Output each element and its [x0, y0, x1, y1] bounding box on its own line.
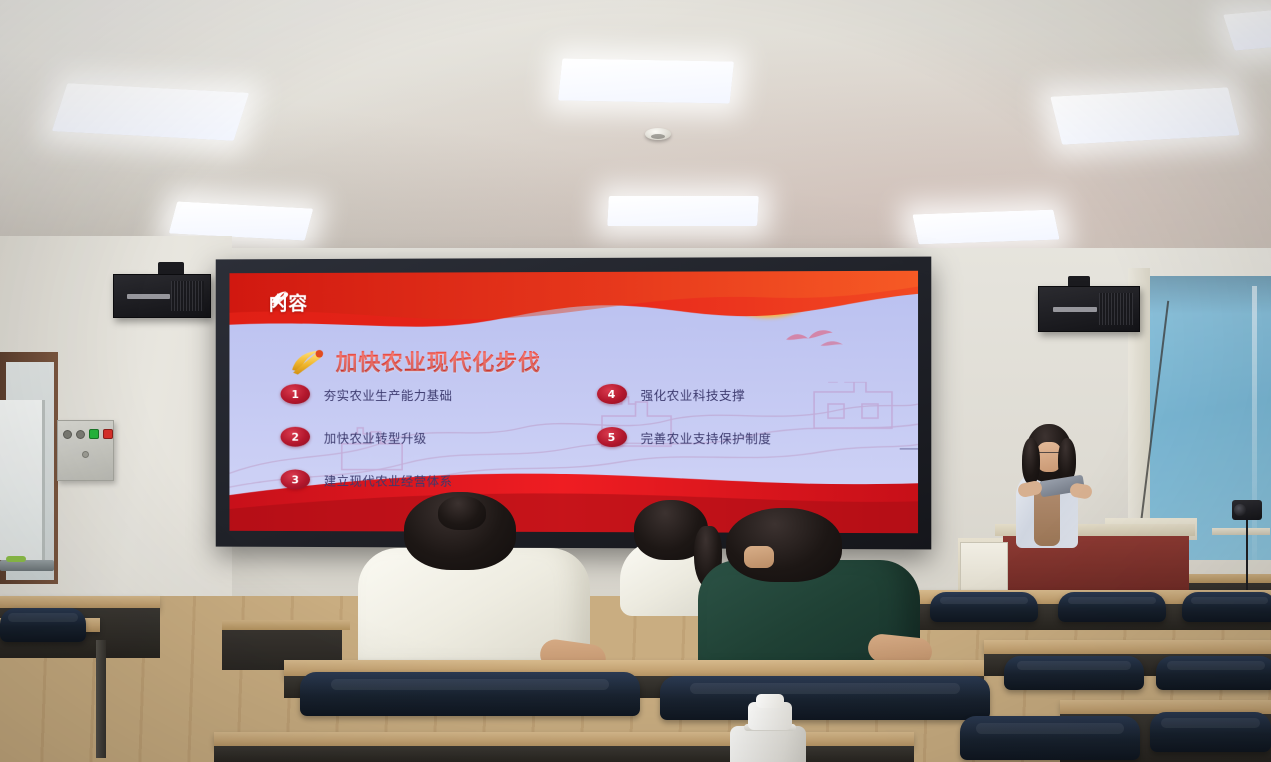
speaker-brand-label: [127, 294, 169, 299]
control-panel-buttons[interactable]: [63, 429, 113, 439]
item-label: 加快农业转型升级: [324, 427, 427, 446]
chair[interactable]: [1150, 712, 1271, 752]
presenter: [988, 412, 1098, 542]
hammer-and-sickle-icon: [269, 289, 291, 308]
student-hair: [726, 508, 842, 582]
item-label: 建立现代农业经营体系: [324, 470, 453, 489]
camera-lens-icon: [1234, 504, 1246, 516]
chair[interactable]: [1058, 592, 1166, 622]
list-item[interactable]: 1 夯实农业生产能力基础: [281, 384, 575, 404]
step-platform-top: [222, 620, 350, 630]
slide-title-row: 加快农业现代化步伐: [288, 344, 541, 378]
right-wall-speaker: [1038, 286, 1140, 332]
classroom-photo: 内容: [0, 0, 1271, 762]
list-item[interactable]: 5 完善农业支持保护制度: [596, 427, 895, 447]
left-wall-speaker: [113, 274, 211, 318]
ceiling-light-5: [1050, 87, 1240, 144]
speaker-brand-label: [1053, 307, 1097, 312]
item-number-badge: 5: [596, 427, 626, 447]
item-number-badge: 3: [281, 469, 311, 489]
student-hair-bun: [438, 496, 486, 530]
knob-icon[interactable]: [76, 430, 85, 439]
marker-pen[interactable]: [6, 556, 26, 562]
item-label: 完善农业支持保护制度: [641, 428, 772, 447]
item-label: 夯实农业生产能力基础: [324, 385, 453, 404]
list-item[interactable]: 3 建立现代农业经营体系: [281, 469, 575, 490]
electrical-control-panel[interactable]: [57, 420, 114, 481]
slide-column-right: 4 强化农业科技支撑 5 完善农业支持保护制度: [596, 384, 895, 491]
speaker-grill: [171, 281, 204, 311]
chair[interactable]: [300, 672, 640, 716]
student-hand: [744, 546, 774, 568]
chair[interactable]: [930, 592, 1038, 622]
ceiling-light-3: [558, 58, 734, 103]
ceiling-light-1: [52, 83, 249, 141]
desk-row-front-front: [214, 746, 914, 762]
chair[interactable]: [960, 716, 1140, 760]
item-rule: [900, 448, 918, 449]
chair[interactable]: [1004, 656, 1144, 690]
chair[interactable]: [660, 676, 990, 720]
item-label: 强化农业科技支撑: [641, 384, 746, 403]
smoke-detector-icon: [645, 128, 671, 140]
chair[interactable]: [1182, 592, 1271, 622]
desk-leg: [96, 640, 106, 758]
chair[interactable]: [1156, 656, 1271, 690]
whiteboard: [0, 400, 45, 560]
step-platform-top: [1186, 574, 1271, 583]
slide-header: 内容: [269, 289, 308, 316]
ceiling-light-4: [607, 196, 759, 226]
green-led-icon[interactable]: [89, 429, 99, 439]
slide-title: 加快农业现代化步伐: [336, 345, 541, 377]
bottle-spout: [756, 694, 784, 708]
ceiling-light-6: [912, 210, 1059, 245]
panel-screw: [82, 451, 89, 458]
presenter-hair-side: [1022, 438, 1040, 484]
chair[interactable]: [0, 608, 86, 642]
camera-stand: [1246, 520, 1248, 590]
list-item[interactable]: 2 加快农业转型升级: [281, 427, 575, 447]
item-number-badge: 4: [596, 384, 626, 404]
red-led-icon[interactable]: [103, 429, 113, 439]
list-item[interactable]: 4 强化农业科技支撑: [596, 384, 895, 404]
knob-icon[interactable]: [63, 430, 72, 439]
slide-content-columns: 1 夯实农业生产能力基础 2 加快农业转型升级 3 建立现代农业经营体系: [281, 384, 896, 491]
white-water-bottle[interactable]: [730, 726, 806, 762]
item-number-badge: 2: [281, 427, 311, 447]
camera-shelf: [1212, 528, 1270, 535]
flying-birds-graphic: [778, 319, 869, 355]
slide-column-left: 1 夯实农业生产能力基础 2 加快农业转型升级 3 建立现代农业经营体系: [281, 384, 575, 490]
speaker-grill: [1099, 293, 1133, 325]
gold-hammer-and-sickle-icon: [288, 344, 327, 378]
item-number-badge: 1: [281, 384, 311, 404]
ceiling: [0, 0, 1271, 272]
